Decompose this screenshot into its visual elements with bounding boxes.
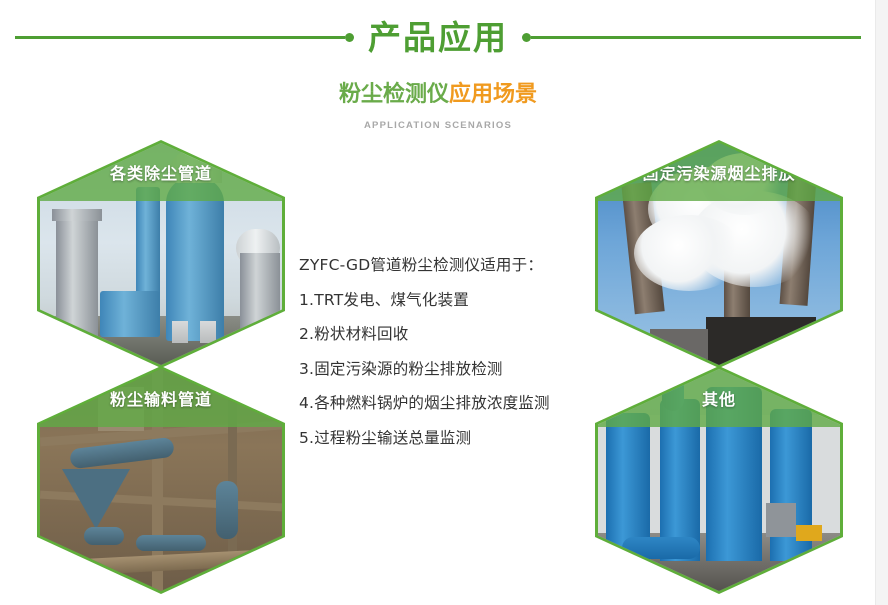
- section-title-row: 产品应用: [0, 14, 876, 60]
- list-item: 2.粉状材料回收: [299, 325, 599, 344]
- divider-dot-right: [522, 33, 531, 42]
- card-label: 粉尘输料管道: [110, 386, 212, 410]
- page-title: 产品应用: [354, 21, 522, 54]
- card-label-band: 各类除尘管道: [40, 143, 282, 201]
- card-clip: 固定污染源烟尘排放: [598, 143, 840, 365]
- application-copy: ZYFC-GD管道粉尘检测仪适用于： 1.TRT发电、煤气化装置 2.粉状材料回…: [299, 256, 599, 448]
- subtitle-scenario: 应用场景: [449, 82, 537, 107]
- list-item: 5.过程粉尘输送总量监测: [299, 429, 599, 448]
- divider-line-left: [15, 36, 345, 39]
- scenario-card-other[interactable]: 其他: [595, 366, 843, 594]
- divider-line-right: [531, 36, 861, 39]
- scenario-card-dust-removal-duct[interactable]: 各类除尘管道: [37, 140, 285, 368]
- copy-lead: ZYFC-GD管道粉尘检测仪适用于：: [299, 256, 599, 275]
- page-right-edge: [875, 0, 888, 605]
- card-label-band: 其他: [598, 369, 840, 427]
- copy-list: 1.TRT发电、煤气化装置 2.粉状材料回收 3.固定污染源的粉尘排放检测 4.…: [299, 291, 599, 448]
- subtitle-english: APPLICATION SCENARIOS: [0, 120, 876, 131]
- divider-dot-left: [345, 33, 354, 42]
- card-clip: 其他: [598, 369, 840, 591]
- product-application-page: 产品应用 粉尘检测仪应用场景 APPLICATION SCENARIOS: [0, 0, 888, 605]
- card-label: 各类除尘管道: [110, 160, 212, 184]
- card-label: 固定污染源烟尘排放: [642, 160, 795, 184]
- list-item: 4.各种燃料锅炉的烟尘排放浓度监测: [299, 394, 599, 413]
- card-label-band: 粉尘输料管道: [40, 369, 282, 427]
- section-subtitle: 粉尘检测仪应用场景: [0, 82, 876, 108]
- list-item: 3.固定污染源的粉尘排放检测: [299, 360, 599, 379]
- card-label: 其他: [702, 386, 736, 410]
- list-item: 1.TRT发电、煤气化装置: [299, 291, 599, 310]
- card-label-band: 固定污染源烟尘排放: [598, 143, 840, 201]
- card-clip: 粉尘输料管道: [40, 369, 282, 591]
- scenario-card-stationary-pollution-stack[interactable]: 固定污染源烟尘排放: [595, 140, 843, 368]
- scenario-card-powder-conveying-pipe[interactable]: 粉尘输料管道: [37, 366, 285, 594]
- card-clip: 各类除尘管道: [40, 143, 282, 365]
- subtitle-product-name: 粉尘检测仪: [339, 82, 449, 107]
